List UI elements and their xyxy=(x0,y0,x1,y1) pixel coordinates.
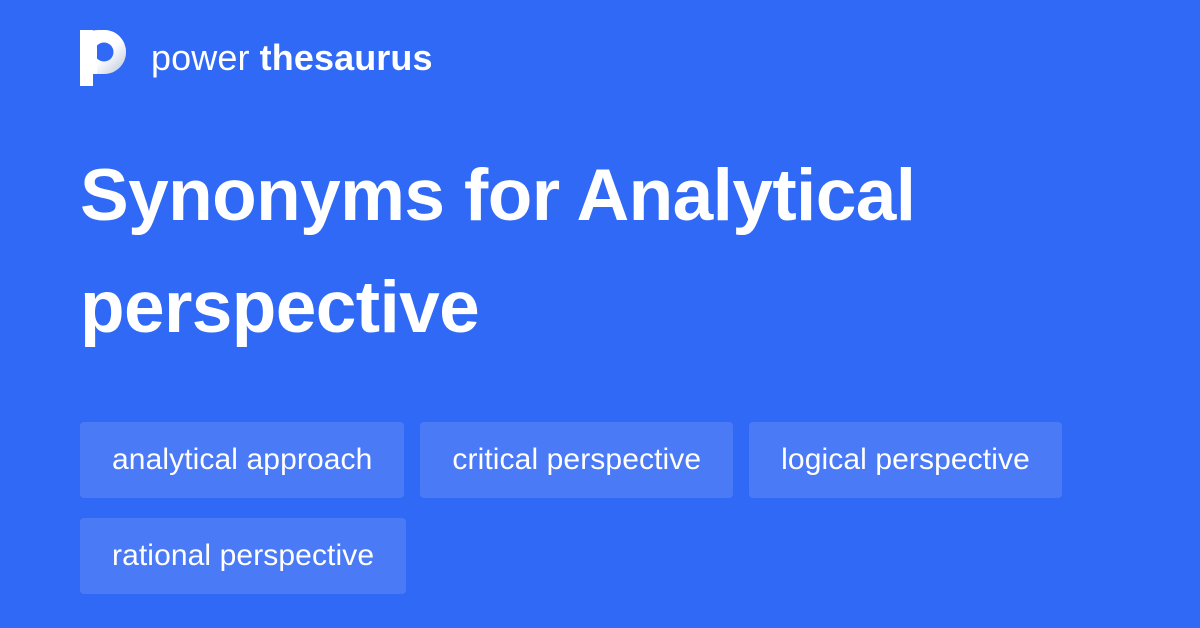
page-title: Synonyms for Analytical perspective xyxy=(80,140,1080,364)
brand-name: power thesaurus xyxy=(151,36,433,80)
synonym-chip[interactable]: logical perspective xyxy=(749,422,1062,498)
synonym-chip[interactable]: rational perspective xyxy=(80,518,406,594)
power-thesaurus-b-logo-icon xyxy=(80,30,126,86)
synonym-chip[interactable]: critical perspective xyxy=(420,422,733,498)
og-share-card: power thesaurus Synonyms for Analytical … xyxy=(0,0,1200,628)
synonym-chip[interactable]: analytical approach xyxy=(80,422,404,498)
brand-logo-lockup[interactable]: power thesaurus xyxy=(80,28,433,88)
brand-name-part-two: thesaurus xyxy=(260,37,433,78)
brand-name-part-one: power xyxy=(151,37,250,78)
synonym-chip-list: analytical approach critical perspective… xyxy=(80,422,1120,594)
